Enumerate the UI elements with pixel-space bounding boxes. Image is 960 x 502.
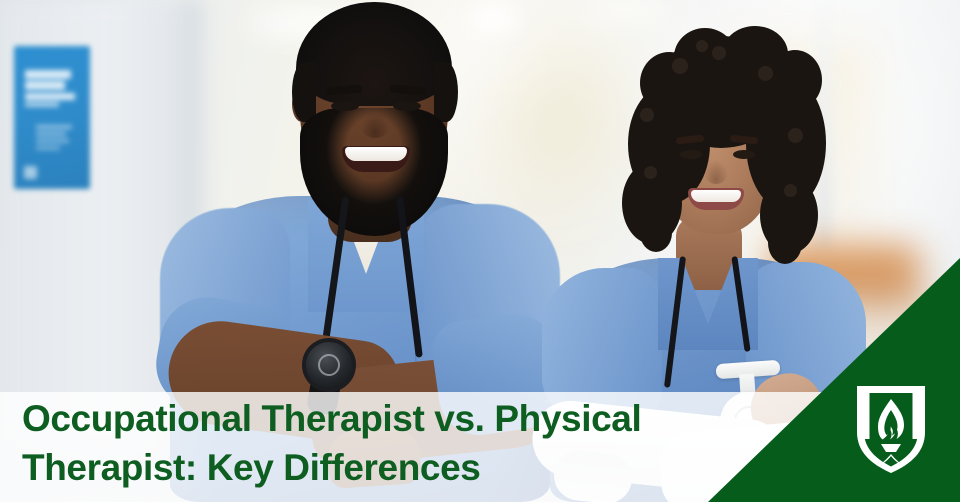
article-hero-banner: Occupational Therapist vs. Physical Ther…	[0, 0, 960, 502]
subject-left-hair	[296, 2, 452, 106]
subject-right-curly-hair	[618, 36, 824, 246]
subject-left-smile	[342, 146, 410, 172]
banner-title: Occupational Therapist vs. Physical Ther…	[22, 394, 722, 492]
subject-right-smile	[688, 188, 744, 210]
rasmussen-shield-flame-logo-icon	[855, 384, 927, 474]
banner-title-line-2: Therapist: Key Differences	[22, 443, 722, 492]
banner-title-line-1: Occupational Therapist vs. Physical	[22, 394, 722, 443]
blue-poster	[14, 46, 90, 189]
